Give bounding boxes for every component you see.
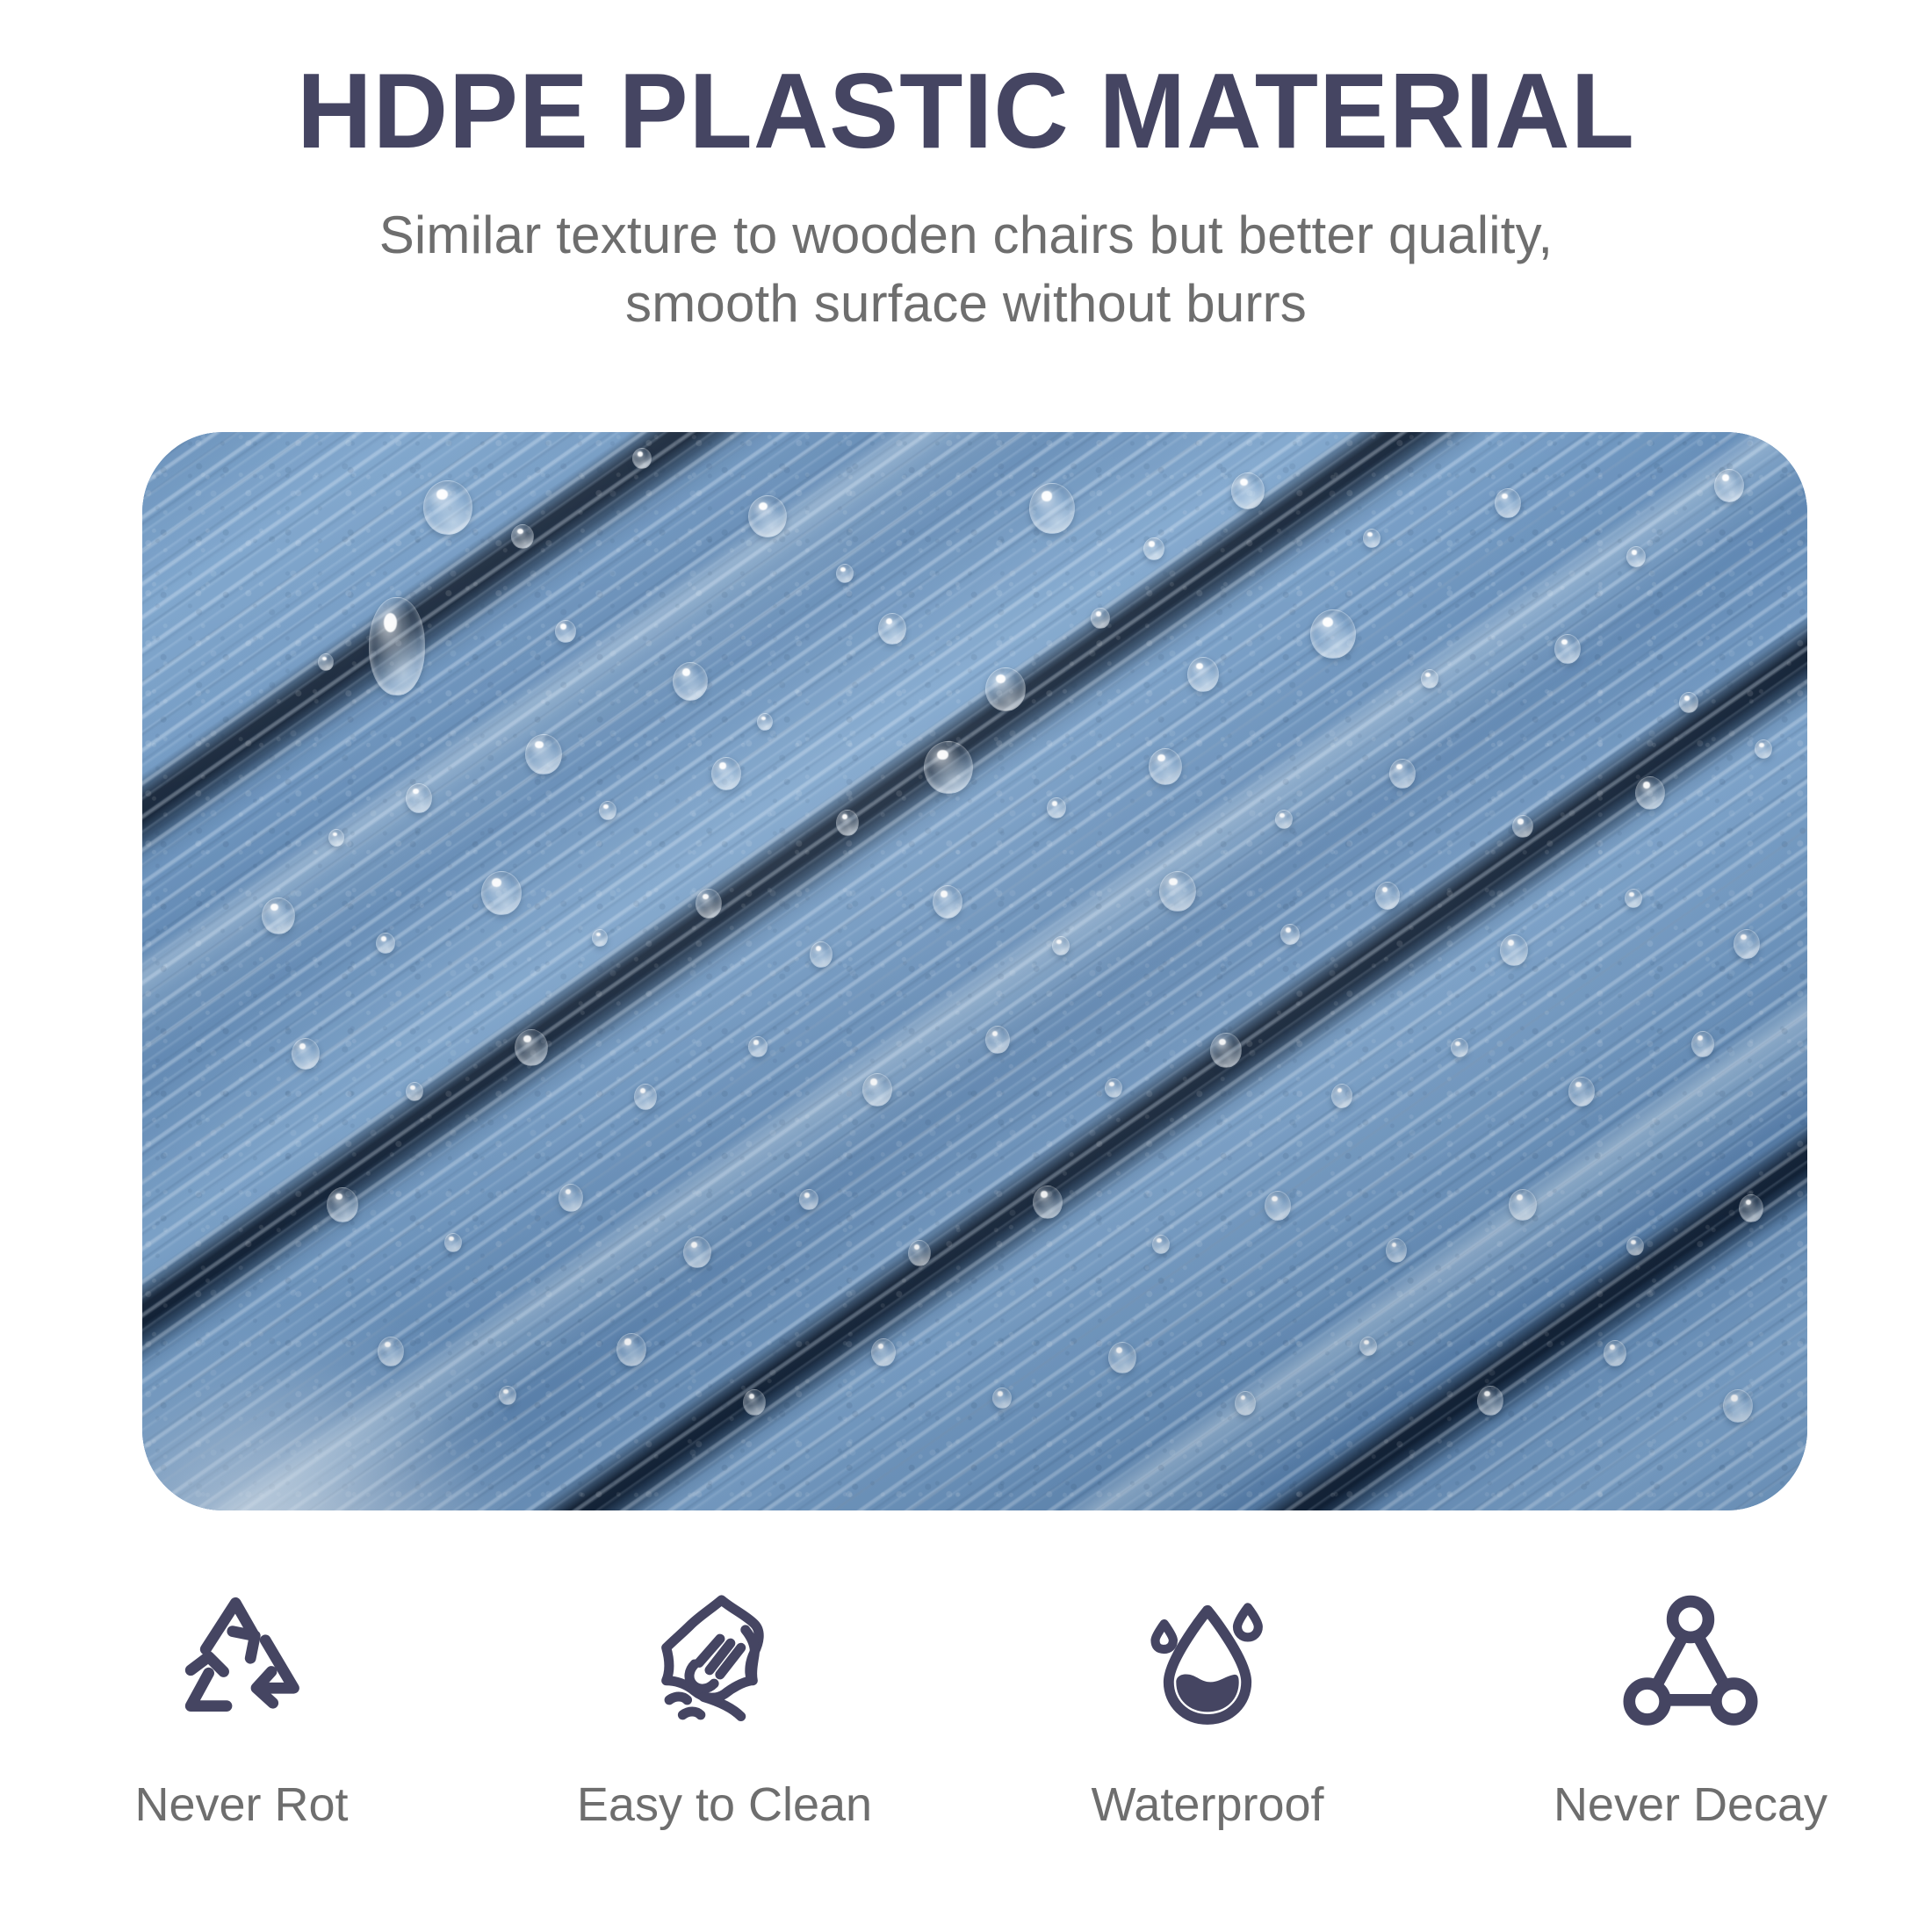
- product-feature-panel: HDPE PLASTIC MATERIAL Similar texture to…: [0, 0, 1932, 1932]
- feature-label: Easy to Clean: [577, 1779, 872, 1831]
- molecule-icon: [1616, 1590, 1765, 1739]
- hand-wipe-icon: [650, 1590, 799, 1739]
- header: HDPE PLASTIC MATERIAL Similar texture to…: [0, 0, 1932, 338]
- product-photo: [142, 432, 1807, 1510]
- feature-item-never-decay: Never Decay: [1449, 1590, 1932, 1831]
- feature-label: Waterproof: [1091, 1779, 1323, 1831]
- feature-label: Never Decay: [1554, 1779, 1827, 1831]
- page-title: HDPE PLASTIC MATERIAL: [29, 0, 1903, 168]
- feature-list: Never Rot: [0, 1590, 1932, 1831]
- subtitle-line-2: smooth surface without burrs: [0, 270, 1932, 338]
- hdpe-slat-texture-image: [142, 432, 1807, 1510]
- feature-item-waterproof: Waterproof: [966, 1590, 1449, 1831]
- recycle-icon: [167, 1590, 316, 1739]
- feature-label: Never Rot: [134, 1779, 348, 1831]
- feature-item-never-rot: Never Rot: [0, 1590, 483, 1831]
- feature-item-easy-to-clean: Easy to Clean: [483, 1590, 966, 1831]
- page-subtitle: Similar texture to wooden chairs but bet…: [0, 168, 1932, 338]
- subtitle-line-1: Similar texture to wooden chairs but bet…: [0, 201, 1932, 270]
- water-drop-icon: [1133, 1590, 1282, 1739]
- photo-vignette: [142, 432, 1807, 1510]
